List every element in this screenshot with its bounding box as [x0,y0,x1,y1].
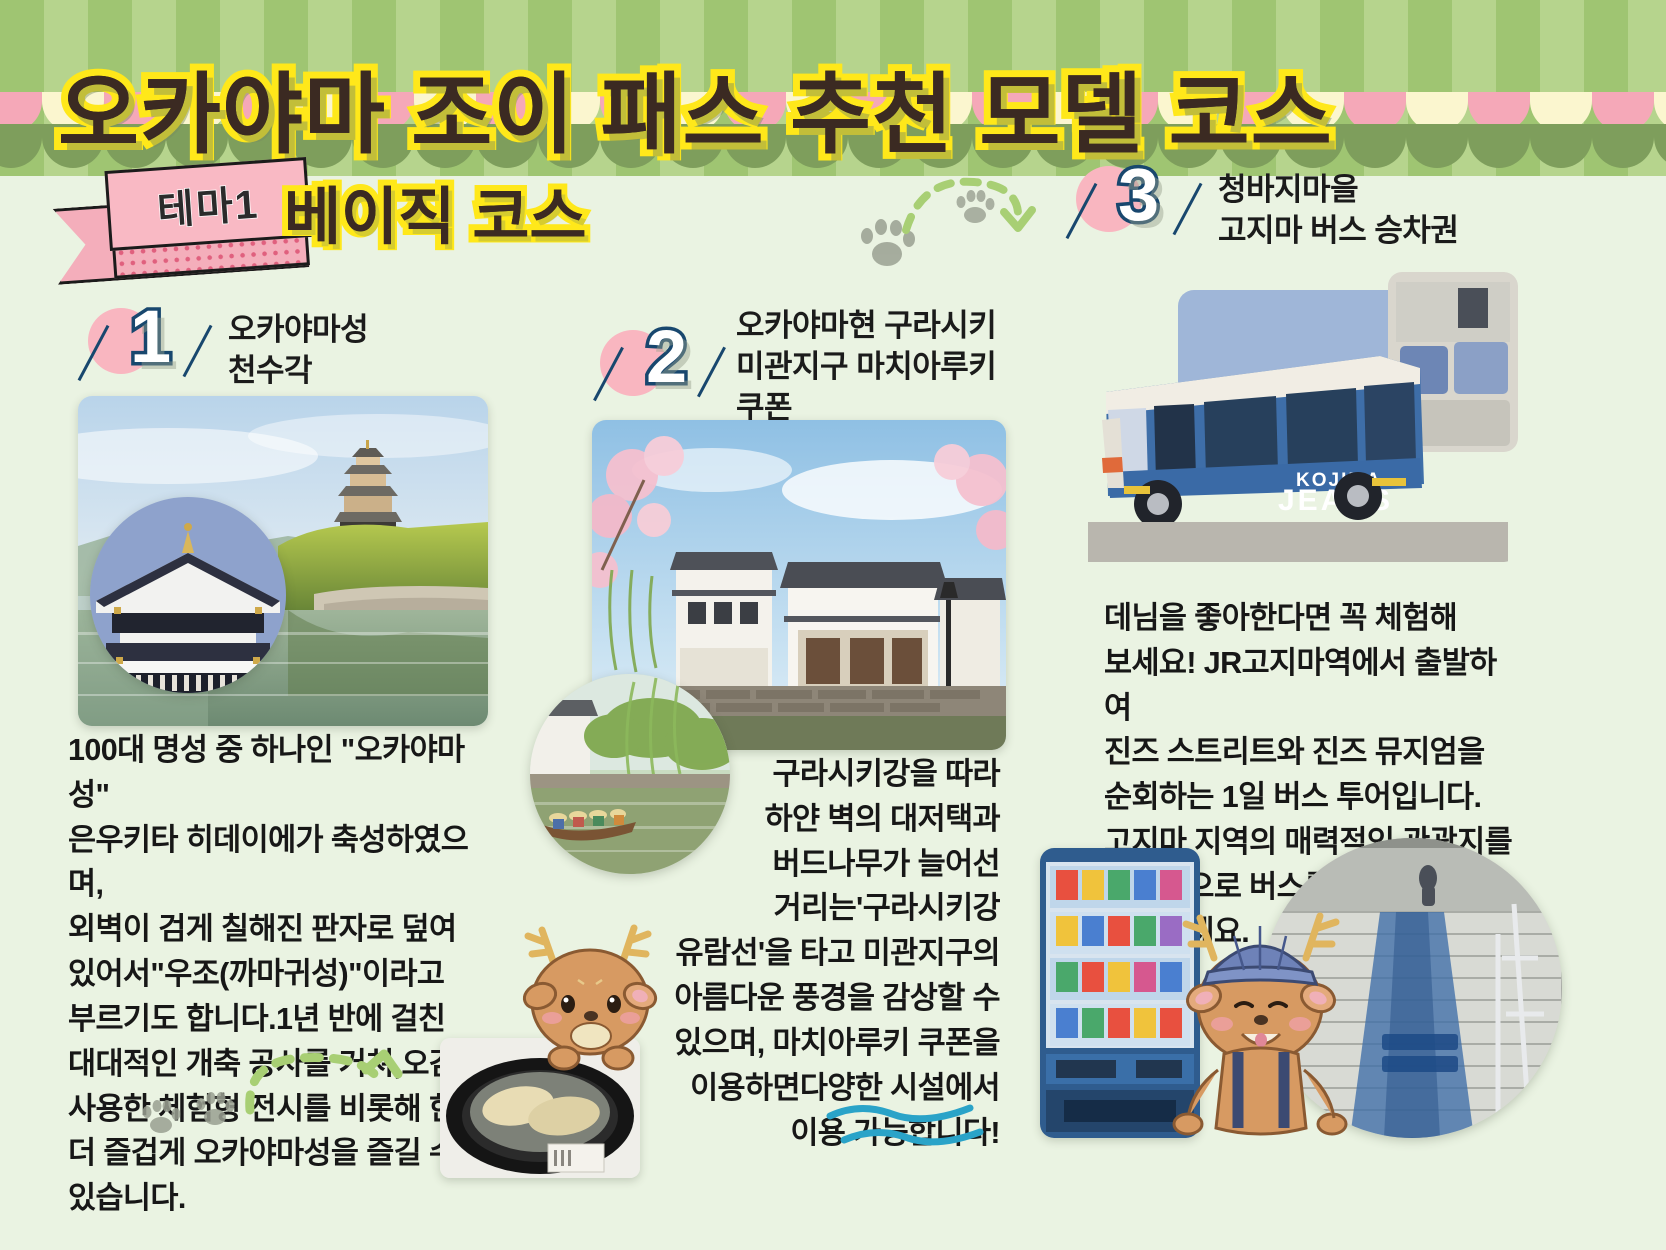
kojima-jeans-bus-image: KOJIMA JEANS [1028,272,1518,562]
scallop-tooth [0,124,42,168]
castle-roof-closeup-image [90,497,286,693]
step-3-number: 3 [1118,160,1159,230]
dashed-arrow-icon-bottom [240,1040,404,1126]
paw-print-icon-bottom2 [192,1090,238,1128]
water-wave-icon [820,1096,990,1156]
step-1-body: 100대 명성 중 하나인 "오카야마성" 은우키타 히데이에가 축성하였으며,… [68,728,498,1221]
step-3-photo-main: KOJIMA JEANS [1028,272,1518,562]
scallop-tooth [1344,124,1406,168]
scallop-tooth [1592,124,1654,168]
step-1-label: 오카야마성 천수각 [228,310,528,392]
scallop-tooth [1468,124,1530,168]
deer-mascot-eating-icon [506,908,674,1090]
step-3-label: 청바지마을 고지마 버스 승차권 [1218,170,1548,252]
paw-print-icon-bottom1 [138,1098,184,1136]
page-subtitle: 베이직 코스 [284,166,586,256]
step-1-photo-circle [90,497,286,693]
step-2-label: 오카야마현 구라시키 미관지구 마치아루키 쿠폰 [736,306,1046,429]
scallop-tooth [1654,124,1666,168]
deer-mascot-cap-icon [1166,892,1356,1150]
page-title: 오카야마 조이 패스 추천 모델 코스 [58,44,1333,171]
step-2-number: 2 [646,322,687,392]
theme-badge-body: 테마1 [104,157,311,251]
poster-root: 오카야마 조이 패스 추천 모델 코스 오카야마 조이 패스 추천 모델 코스 … [0,0,1666,1250]
step-2-slash-right [697,347,726,398]
theme-badge: 테마1 [55,158,301,270]
decor-mascot-cap [1166,892,1356,1150]
step-3-slash-right [1173,183,1203,236]
step-1-slash-right [183,325,213,378]
scallop-tooth [1530,124,1592,168]
theme-badge-label: 테마1 [155,172,261,237]
step-1-number: 1 [130,302,171,372]
decor-mascot-eating [506,908,674,1090]
dashed-arrow-icon-top [900,168,1040,244]
scallop-tooth [1406,124,1468,168]
